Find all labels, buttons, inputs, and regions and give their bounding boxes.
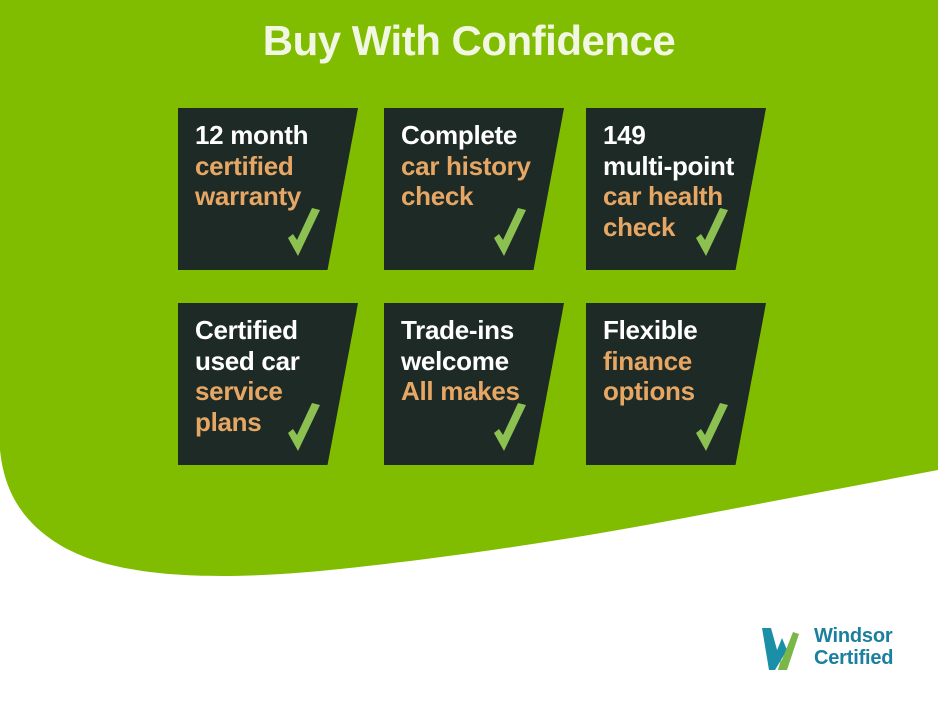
feature-card-used-car-service-plans[interactable]: Certified used car service plans xyxy=(178,303,358,465)
windsor-certified-logo[interactable]: Windsor Certified xyxy=(760,626,893,670)
card-line-2: used car xyxy=(195,346,336,377)
feature-card-row: 12 month certified warranty Complete car… xyxy=(178,108,778,303)
feature-card-car-history-check[interactable]: Complete car history check xyxy=(384,108,564,270)
card-line-1: Flexible xyxy=(603,315,744,346)
check-mark-icon xyxy=(284,403,324,455)
feature-card-certified-warranty[interactable]: 12 month certified warranty xyxy=(178,108,358,270)
card-line-1: Complete xyxy=(401,120,542,151)
buy-with-confidence-banner: Buy With Confidence 12 month certified w… xyxy=(0,0,938,704)
feature-card-trade-ins-welcome[interactable]: Trade-ins welcome All makes xyxy=(384,303,564,465)
logo-name-line-1: Windsor xyxy=(814,626,893,648)
card-line-2: finance xyxy=(603,346,744,377)
logo-wordmark: Windsor Certified xyxy=(814,626,893,669)
check-mark-icon xyxy=(692,403,732,455)
card-text: Complete car history check xyxy=(401,120,542,212)
card-text: 12 month certified warranty xyxy=(195,120,336,212)
page-title: Buy With Confidence xyxy=(0,18,938,64)
check-mark-icon xyxy=(490,403,530,455)
card-line-2: certified xyxy=(195,151,336,182)
feature-card-multi-point-health-check[interactable]: 149 multi-point car health check xyxy=(586,108,766,270)
feature-card-grid: 12 month certified warranty Complete car… xyxy=(178,108,778,498)
check-mark-icon xyxy=(284,208,324,260)
feature-card-flexible-finance[interactable]: Flexible finance options xyxy=(586,303,766,465)
card-line-2: multi-point xyxy=(603,151,744,182)
windsor-w-logo-icon xyxy=(760,626,806,670)
check-mark-icon xyxy=(490,208,530,260)
card-line-2: welcome xyxy=(401,346,542,377)
logo-name-line-2: Certified xyxy=(814,648,893,670)
card-text: Trade-ins welcome All makes xyxy=(401,315,542,407)
feature-card-row: Certified used car service plans Trade-i… xyxy=(178,303,778,498)
check-mark-icon xyxy=(692,208,732,260)
card-line-1: Certified xyxy=(195,315,336,346)
card-line-1: 12 month xyxy=(195,120,336,151)
card-text: Flexible finance options xyxy=(603,315,744,407)
card-line-2: car history xyxy=(401,151,542,182)
card-line-1: Trade-ins xyxy=(401,315,542,346)
card-line-1: 149 xyxy=(603,120,744,151)
